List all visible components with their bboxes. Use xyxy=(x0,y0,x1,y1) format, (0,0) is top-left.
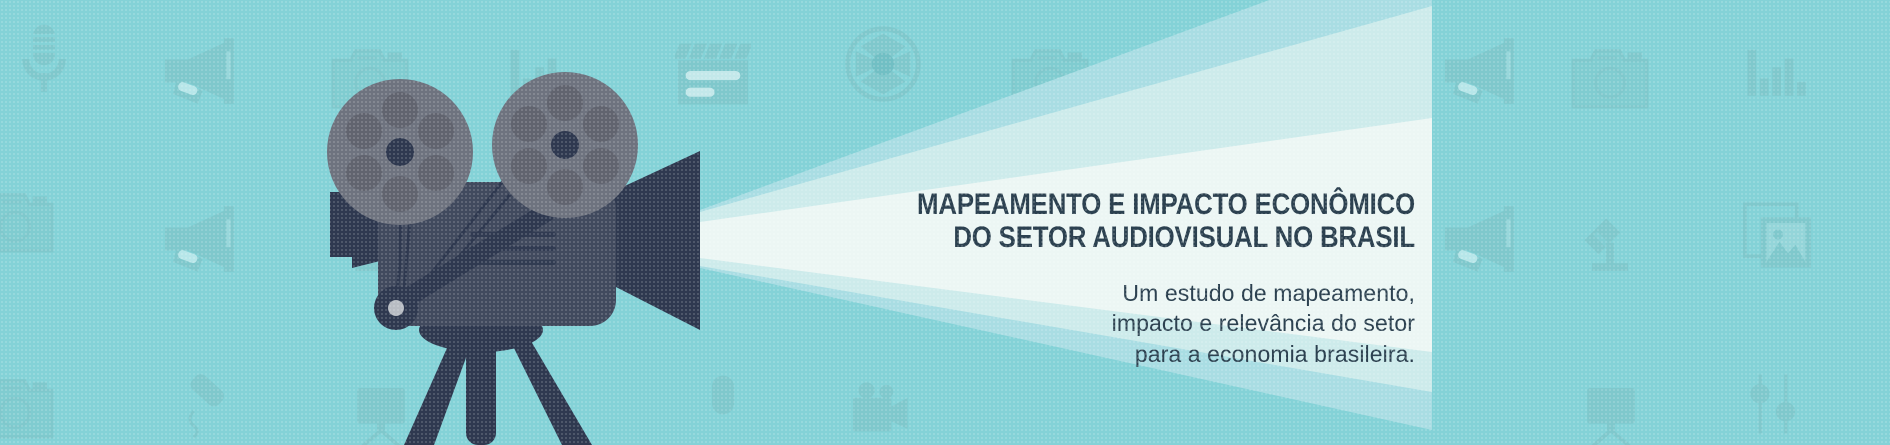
title-line-2: DO SETOR AUDIOVISUAL NO BRASIL xyxy=(757,221,1415,254)
page-title: MAPEAMENTO E IMPACTO ECONÔMICO DO SETOR … xyxy=(757,188,1415,254)
upper-film-reel-right xyxy=(492,72,638,218)
headline-block: MAPEAMENTO E IMPACTO ECONÔMICO DO SETOR … xyxy=(650,188,1415,369)
tripod-legs xyxy=(404,308,592,445)
subtitle-line-3: para a economia brasileira. xyxy=(650,339,1415,369)
body-detail-lines xyxy=(470,232,556,265)
subtitle-line-1: Um estudo de mapeamento, xyxy=(650,278,1415,308)
audiovisual-study-banner: MAPEAMENTO E IMPACTO ECONÔMICO DO SETOR … xyxy=(0,0,1890,445)
page-subtitle: Um estudo de mapeamento, impacto e relev… xyxy=(650,278,1415,369)
crank-pivot-knob xyxy=(388,300,404,316)
upper-film-reel-left xyxy=(327,79,473,225)
subtitle-line-2: impacto e relevância do setor xyxy=(650,308,1415,338)
title-line-1: MAPEAMENTO E IMPACTO ECONÔMICO xyxy=(757,188,1415,221)
